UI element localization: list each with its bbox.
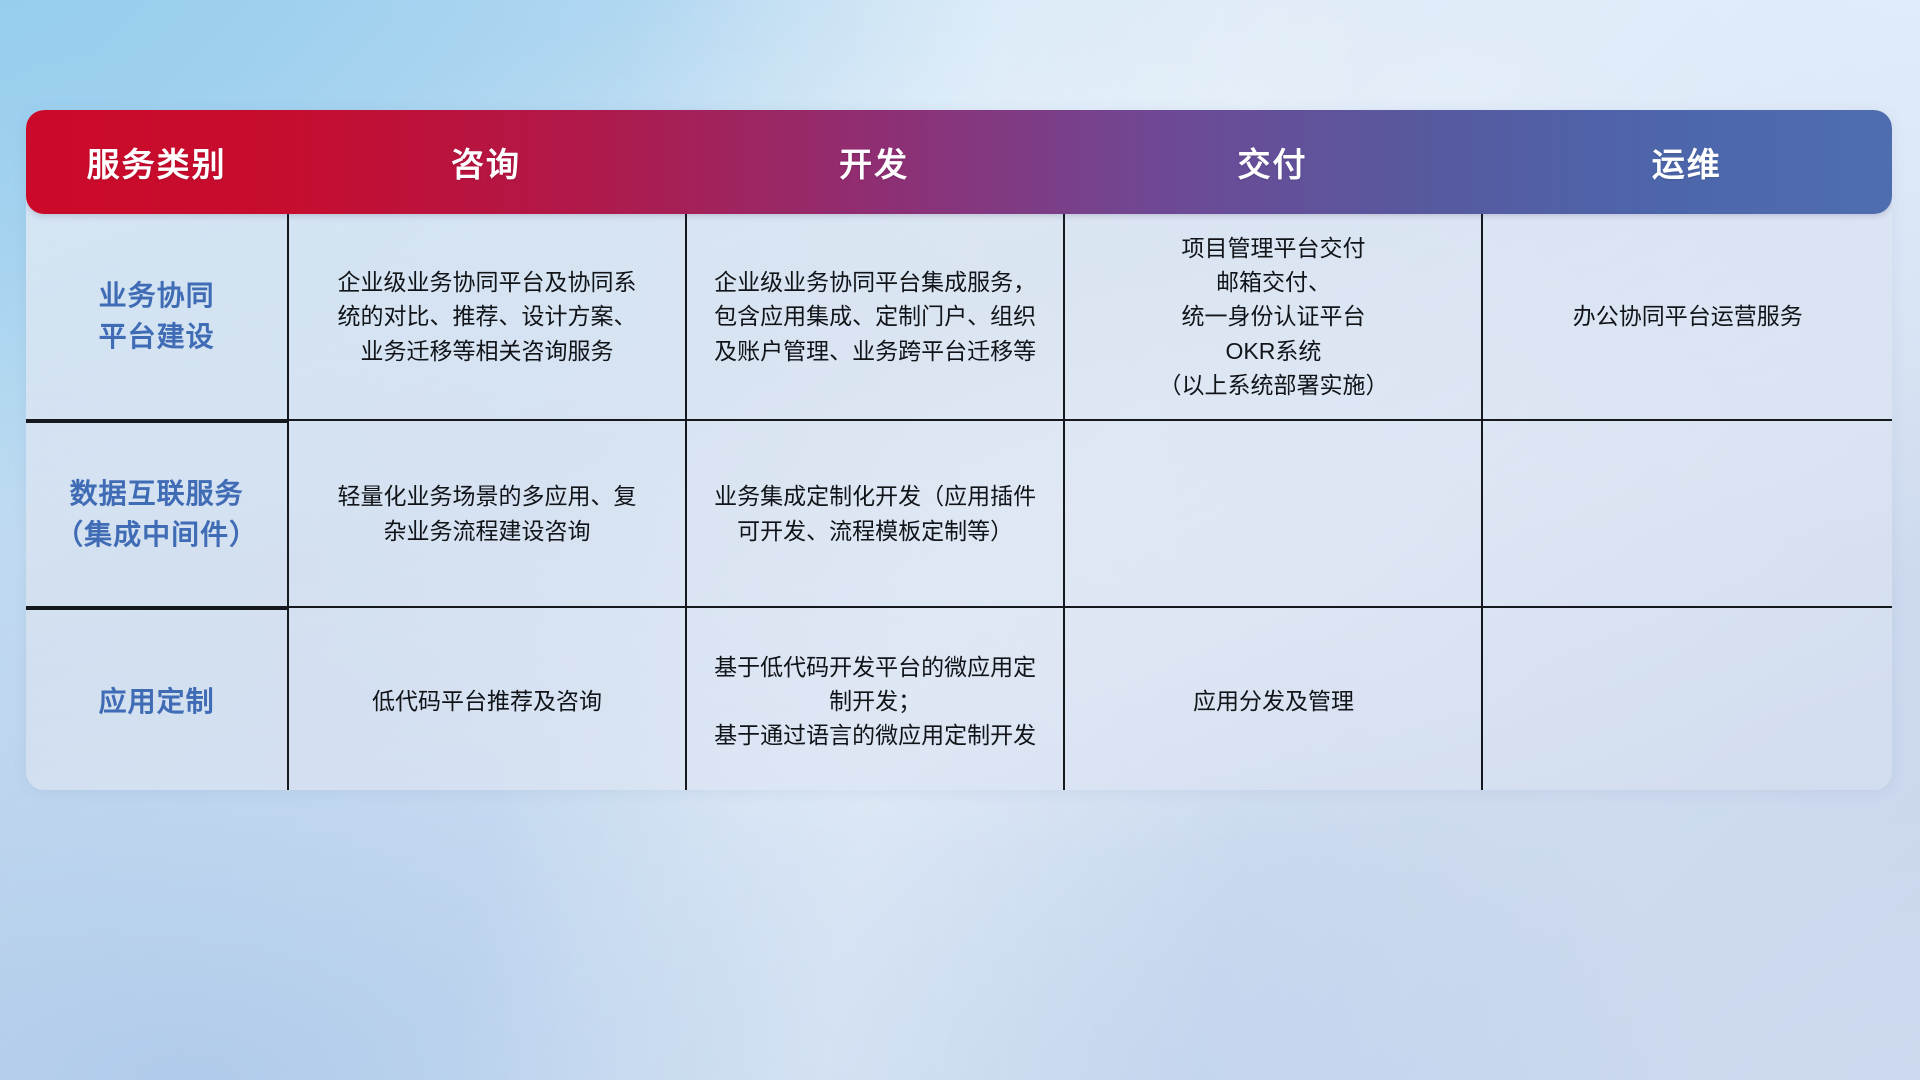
cell-operations: 办公协同平台运营服务 <box>1481 214 1892 419</box>
cell-operations <box>1481 421 1892 606</box>
cell-delivery: 应用分发及管理 <box>1063 608 1481 790</box>
column-header-service-category: 服务类别 <box>26 110 287 214</box>
table-row: 数据互联服务 （集成中间件） 轻量化业务场景的多应用、复 杂业务流程建设咨询 业… <box>26 419 1892 606</box>
column-header-consulting: 咨询 <box>287 110 684 214</box>
row-category-label: 业务协同 平台建设 <box>26 214 287 419</box>
row-category-label: 数据互联服务 （集成中间件） <box>26 421 287 606</box>
table-body: 业务协同 平台建设 企业级业务协同平台及协同系 统的对比、推荐、设计方案、 业务… <box>26 214 1892 790</box>
cell-development: 业务集成定制化开发（应用插件 可开发、流程模板定制等） <box>685 421 1064 606</box>
cell-consulting: 轻量化业务场景的多应用、复 杂业务流程建设咨询 <box>287 421 684 606</box>
service-matrix-table: 服务类别 咨询 开发 交付 运维 业务协同 平台建设 企业级业务协同平台及协同系… <box>26 110 1892 790</box>
row-category-label: 应用定制 <box>26 608 287 790</box>
cell-consulting: 低代码平台推荐及咨询 <box>287 608 684 790</box>
table-row: 应用定制 低代码平台推荐及咨询 基于低代码开发平台的微应用定 制开发； 基于通过… <box>26 606 1892 790</box>
column-header-delivery: 交付 <box>1063 110 1481 214</box>
cell-operations <box>1481 608 1892 790</box>
cell-development: 企业级业务协同平台集成服务， 包含应用集成、定制门户、组织 及账户管理、业务跨平… <box>685 214 1064 419</box>
column-header-development: 开发 <box>685 110 1064 214</box>
cell-delivery: 项目管理平台交付 邮箱交付、 统一身份认证平台 OKR系统 （以上系统部署实施） <box>1063 214 1481 419</box>
cell-development: 基于低代码开发平台的微应用定 制开发； 基于通过语言的微应用定制开发 <box>685 608 1064 790</box>
column-header-operations: 运维 <box>1481 110 1892 214</box>
cell-consulting: 企业级业务协同平台及协同系 统的对比、推荐、设计方案、 业务迁移等相关咨询服务 <box>287 214 684 419</box>
table-row: 业务协同 平台建设 企业级业务协同平台及协同系 统的对比、推荐、设计方案、 业务… <box>26 214 1892 419</box>
cell-delivery <box>1063 421 1481 606</box>
table-header-row: 服务类别 咨询 开发 交付 运维 <box>26 110 1892 214</box>
